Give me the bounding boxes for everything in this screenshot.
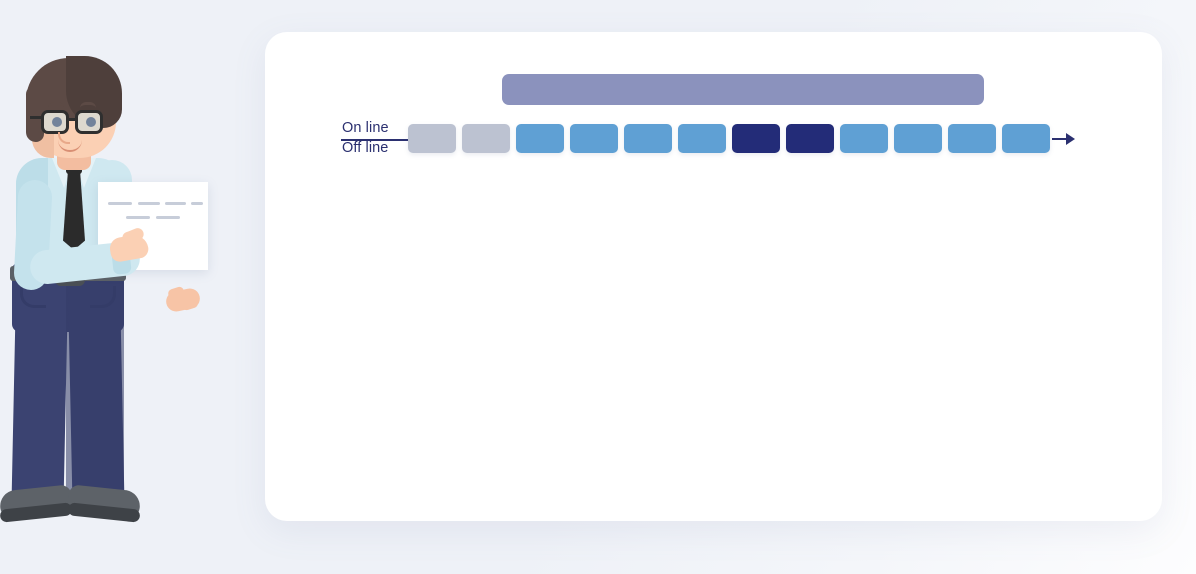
- timeline-axis-divider: [341, 139, 408, 141]
- timeline-block[interactable]: [678, 124, 726, 153]
- screen-root: On line Off line: [0, 0, 1196, 574]
- on-line-label: On line: [342, 118, 406, 138]
- timeline-block[interactable]: [840, 124, 888, 153]
- off-line-label: Off line: [342, 138, 406, 158]
- timeline-block[interactable]: [786, 124, 834, 153]
- timeline-axis-labels: On line Off line: [342, 118, 406, 158]
- timeline-arrow-icon: [1066, 133, 1075, 145]
- timeline-blocks: [408, 124, 1050, 153]
- timeline-block[interactable]: [570, 124, 618, 153]
- timeline-block[interactable]: [948, 124, 996, 153]
- timeline: On line Off line: [0, 0, 1196, 574]
- timeline-block[interactable]: [408, 124, 456, 153]
- timeline-block[interactable]: [1002, 124, 1050, 153]
- timeline-block[interactable]: [894, 124, 942, 153]
- timeline-block[interactable]: [732, 124, 780, 153]
- timeline-block[interactable]: [624, 124, 672, 153]
- timeline-block[interactable]: [462, 124, 510, 153]
- timeline-block[interactable]: [516, 124, 564, 153]
